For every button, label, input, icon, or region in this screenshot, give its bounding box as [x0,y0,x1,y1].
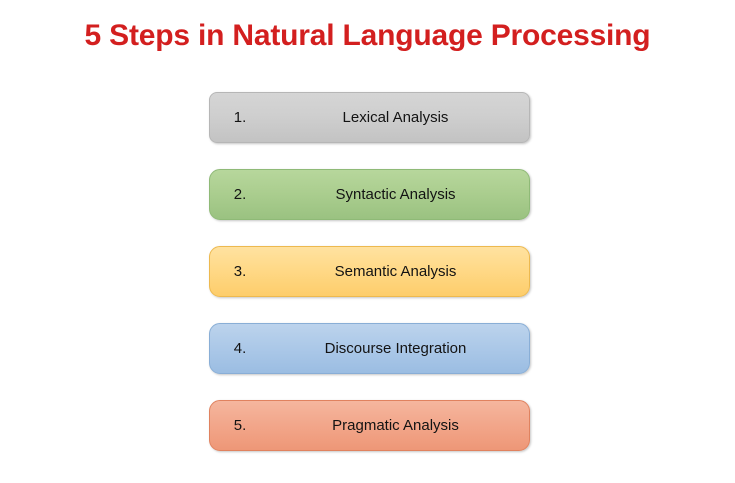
page-title: 5 Steps in Natural Language Processing [0,19,735,53]
step-label: Discourse Integration [270,340,529,357]
slide-canvas: 5 Steps in Natural Language Processing 1… [0,0,735,483]
step-number: 1. [210,109,270,126]
step-label: Semantic Analysis [270,263,529,280]
steps-list: 1. Lexical Analysis 2. Syntactic Analysi… [209,92,530,451]
step-number: 5. [210,417,270,434]
step-label: Lexical Analysis [270,109,529,126]
step-label: Pragmatic Analysis [270,417,529,434]
list-item[interactable]: 3. Semantic Analysis [209,246,530,297]
list-item[interactable]: 2. Syntactic Analysis [209,169,530,220]
list-item[interactable]: 1. Lexical Analysis [209,92,530,143]
step-label: Syntactic Analysis [270,186,529,203]
list-item[interactable]: 5. Pragmatic Analysis [209,400,530,451]
step-number: 3. [210,263,270,280]
list-item[interactable]: 4. Discourse Integration [209,323,530,374]
step-number: 4. [210,340,270,357]
step-number: 2. [210,186,270,203]
